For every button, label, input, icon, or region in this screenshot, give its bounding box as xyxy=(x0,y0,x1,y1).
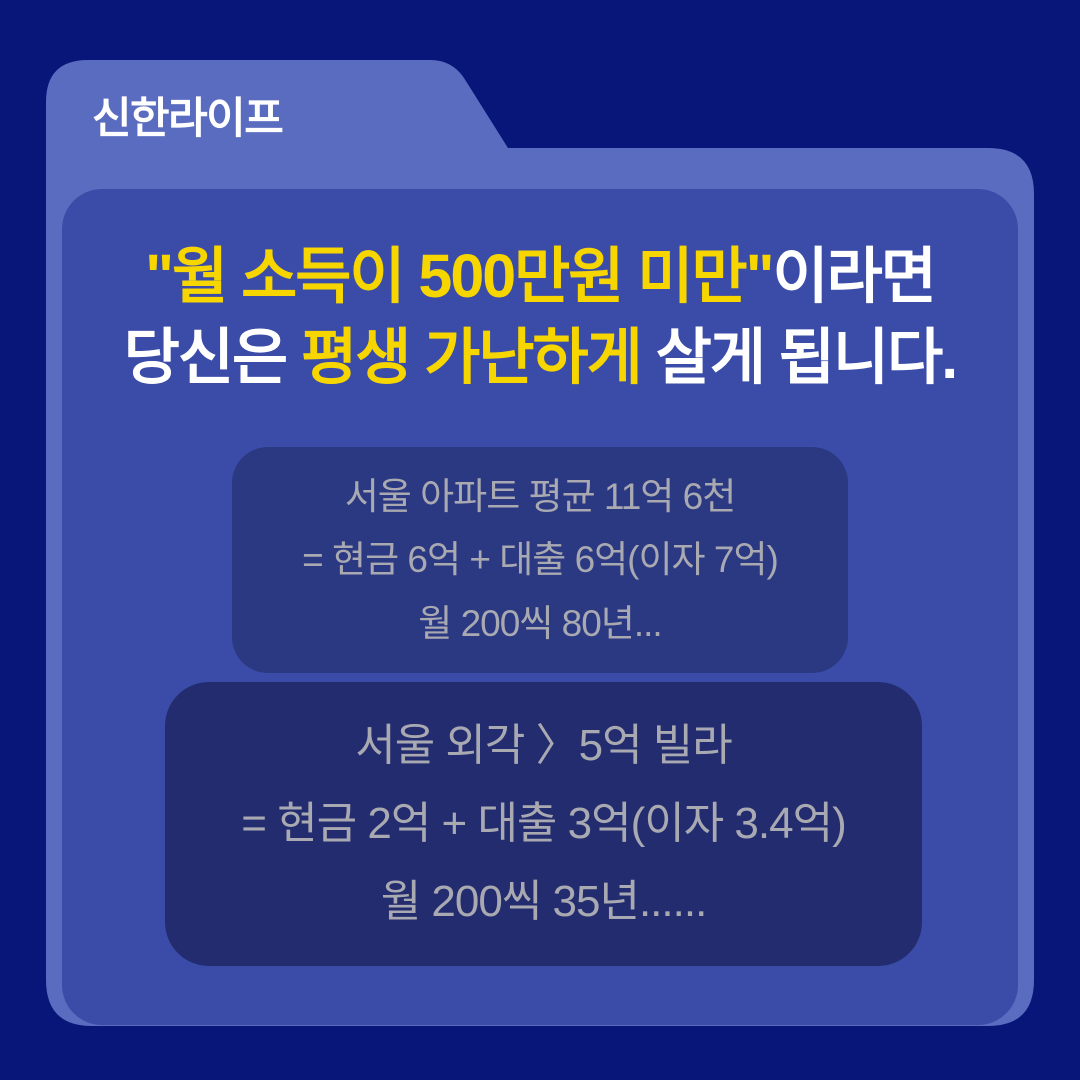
headline-line-2: 당신은 평생 가난하게 살게 됩니다. xyxy=(62,317,1018,398)
headline-line-1: "월 소득이 500만원 미만"이라면 xyxy=(62,236,1018,317)
brand-logo: 신한라이프 xyxy=(92,98,282,141)
headline-line-2-accent: 평생 가난하게 xyxy=(301,323,641,391)
headline-line-1-accent: "월 소득이 500만원 미만" xyxy=(145,242,772,310)
info-card-villa-line-1: 서울 외각 〉5억 빌라 xyxy=(355,707,732,785)
info-card-apartment-line-3: 월 200씩 80년... xyxy=(418,592,661,656)
page-headline: "월 소득이 500만원 미만"이라면 당신은 평생 가난하게 살게 됩니다. xyxy=(62,236,1018,397)
info-card-villa-line-2: = 현금 2억 + 대출 3억(이자 3.4억) xyxy=(241,785,845,863)
headline-line-2-plain-after: 살게 됩니다. xyxy=(641,323,956,391)
info-card-villa-line-3: 월 200씩 35년...... xyxy=(381,863,707,941)
info-card-apartment-line-2: = 현금 6억 + 대출 6억(이자 7억) xyxy=(302,528,778,592)
info-card-villa: 서울 외각 〉5억 빌라 = 현금 2억 + 대출 3억(이자 3.4억) 월 … xyxy=(165,682,922,966)
info-card-apartment-line-1: 서울 아파트 평균 11억 6천 xyxy=(345,465,735,529)
headline-line-1-plain: 이라면 xyxy=(773,242,935,310)
headline-line-2-plain-before: 당신은 xyxy=(124,323,301,391)
info-card-apartment: 서울 아파트 평균 11억 6천 = 현금 6억 + 대출 6억(이자 7억) … xyxy=(232,447,848,673)
